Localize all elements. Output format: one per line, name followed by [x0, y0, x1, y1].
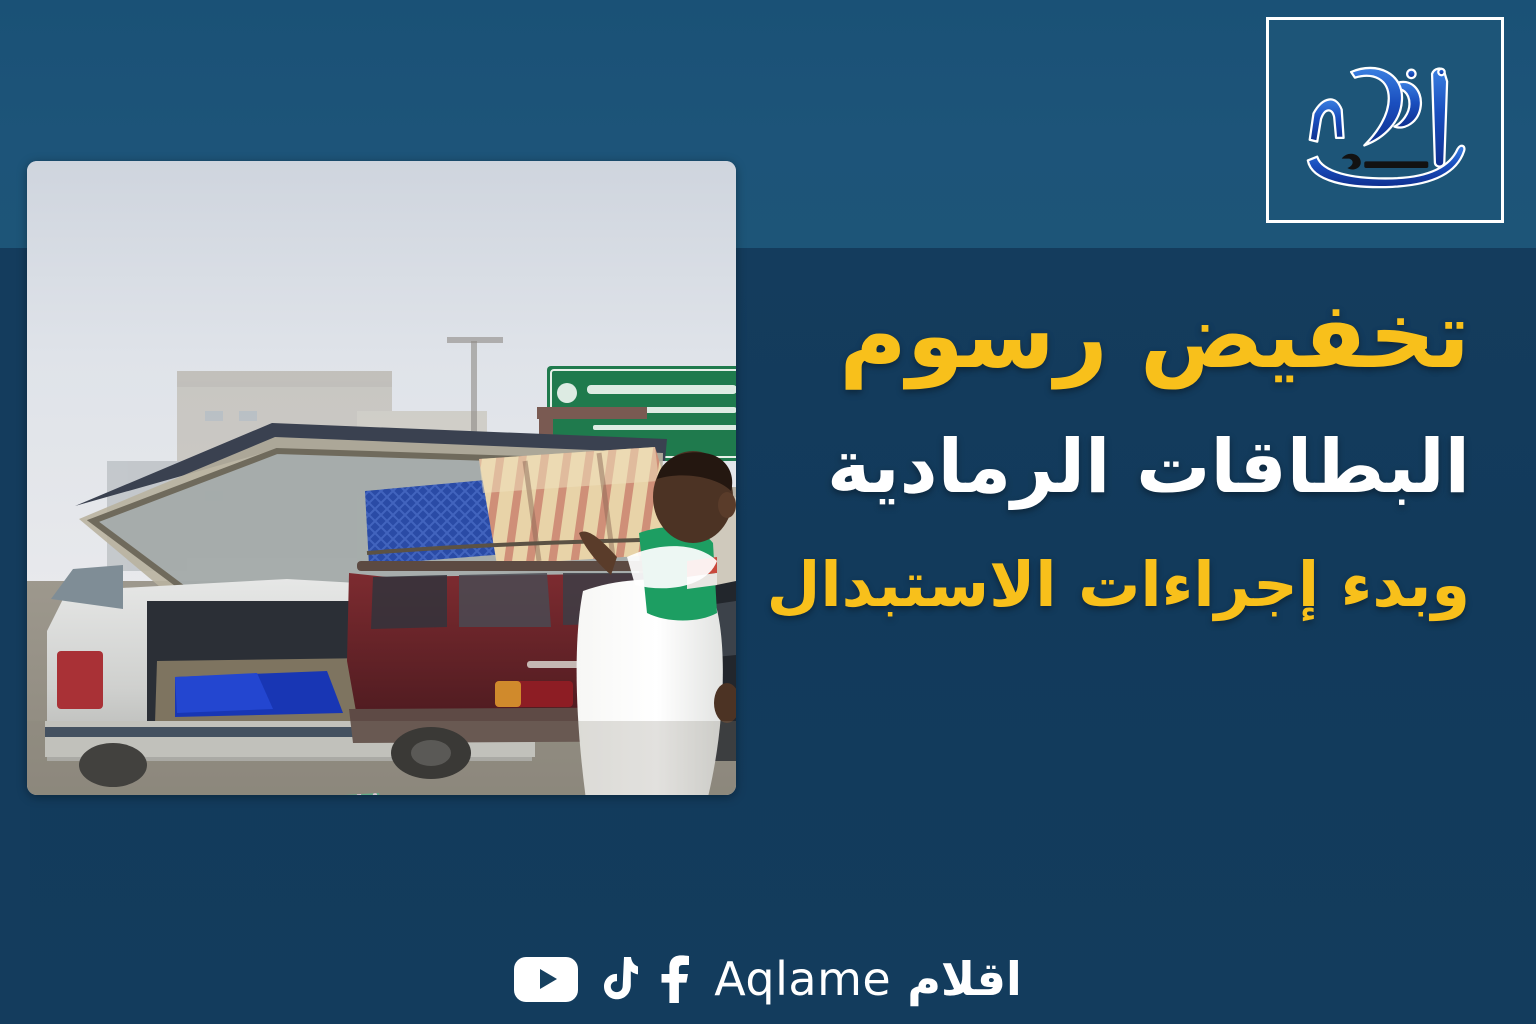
- headline-line-2: البطاقات الرمادية: [770, 429, 1470, 507]
- headline-line-3: وبدء إجراءات الاستبدال: [770, 552, 1470, 617]
- youtube-play-triangle: [540, 969, 557, 989]
- brand-lockup: Aqlame اقلام: [714, 952, 1021, 1006]
- facebook-icon[interactable]: [656, 954, 690, 1004]
- youtube-icon[interactable]: [514, 957, 578, 1002]
- tiktok-glyph: [596, 955, 638, 1003]
- facebook-glyph: [656, 954, 690, 1004]
- social-footer: Aqlame اقلام: [0, 952, 1536, 1006]
- background-left-strip: [0, 248, 30, 1024]
- tiktok-icon[interactable]: [596, 955, 638, 1003]
- news-card-canvas: Aqlame.com: [0, 0, 1536, 1024]
- logo-frame[interactable]: Aqlame.com: [1266, 17, 1504, 223]
- news-photo: [27, 161, 736, 795]
- aqlame-calligraphy-logo: [1290, 40, 1480, 200]
- photo-illustration: [27, 161, 736, 795]
- brand-name-arabic: اقلام: [907, 952, 1022, 1006]
- headline-block: تخفيض رسوم البطاقات الرمادية وبدء إجراءا…: [770, 288, 1470, 617]
- headline-line-1: تخفيض رسوم: [770, 288, 1470, 385]
- brand-name-latin: Aqlame: [714, 952, 891, 1006]
